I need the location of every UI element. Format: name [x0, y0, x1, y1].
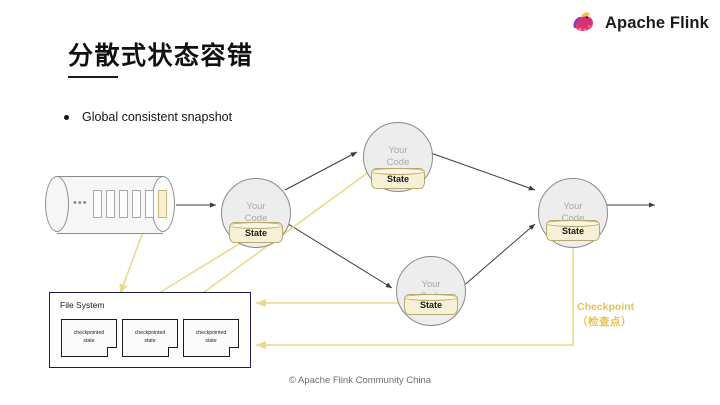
- architecture-diagram: ••• Your Code State Your Code State Your…: [0, 0, 720, 405]
- footer-credit: © Apache Flink Community China: [0, 375, 720, 386]
- edge-op2-to-op4: [428, 152, 535, 190]
- state-label: State: [245, 228, 267, 238]
- note-label: checkpointed state: [71, 330, 108, 346]
- page-fold-icon: [229, 347, 239, 357]
- state-label: State: [420, 300, 442, 310]
- data-stream-source: •••: [45, 176, 175, 232]
- source-ellipsis: •••: [73, 200, 88, 206]
- state-store-op3: State: [404, 294, 458, 315]
- checkpoint-caption: Checkpoint （检查点）: [577, 300, 634, 330]
- checkpointed-state-note: checkpointed state: [122, 319, 178, 357]
- page-fold-icon: [168, 347, 178, 357]
- edge-op1-to-op3: [285, 222, 392, 288]
- operator-label: Your: [246, 201, 265, 213]
- checkpoint-caption-zh: （检查点）: [577, 315, 634, 330]
- state-label: State: [387, 174, 409, 184]
- record-bar: [119, 190, 128, 218]
- record-bar: [93, 190, 102, 218]
- source-cap-left: [45, 176, 69, 232]
- checkpointed-state-note: checkpointed state: [183, 319, 239, 357]
- state-store-op4: State: [546, 220, 600, 241]
- operator-label: Your: [563, 201, 582, 213]
- slide: Apache Flink 分散式状态容错 Global consistent s…: [0, 0, 720, 405]
- operator-label: Your: [421, 279, 440, 291]
- checkpoint-caption-en: Checkpoint: [577, 300, 634, 315]
- edge-op1-to-op2: [285, 152, 357, 190]
- operator-label: Your: [388, 145, 407, 157]
- operator-label: Code: [387, 157, 410, 169]
- file-system-title: File System: [60, 300, 104, 310]
- record-bar: [145, 190, 154, 218]
- page-fold-icon: [107, 347, 117, 357]
- operator-node-op3: Your Code: [396, 256, 466, 326]
- note-label: checkpointed state: [193, 330, 230, 346]
- state-store-op2: State: [371, 168, 425, 189]
- edge-op3-to-op4: [461, 224, 535, 288]
- checkpointed-state-note: checkpointed state: [61, 319, 117, 357]
- state-store-op1: State: [229, 222, 283, 243]
- checkpoint-arrow-op2: [192, 152, 396, 301]
- record-bar: [106, 190, 115, 218]
- note-label: checkpointed state: [132, 330, 169, 346]
- file-system-box: File System checkpointed state checkpoin…: [49, 292, 251, 368]
- record-bar: [132, 190, 141, 218]
- record-bar-barrier: [158, 190, 167, 218]
- state-label: State: [562, 226, 584, 236]
